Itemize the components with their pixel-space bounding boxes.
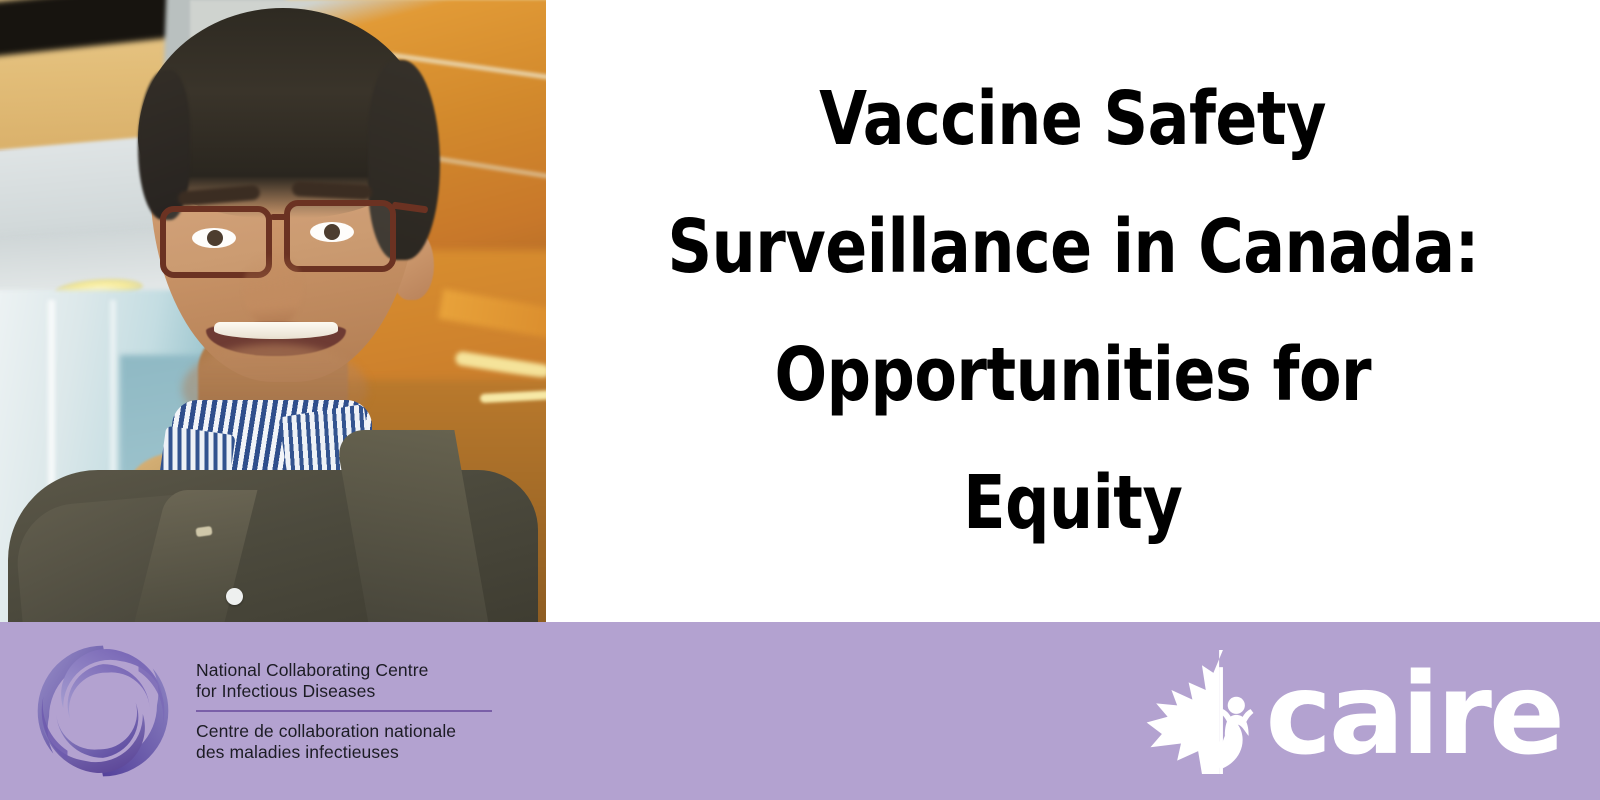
- photo-person-nose: [244, 255, 302, 327]
- nccid-french-line-1: Centre de collaboration nationale: [196, 721, 492, 742]
- nccid-logo: National Collaborating Centre for Infect…: [32, 640, 492, 782]
- title-line-4: Equity: [963, 439, 1182, 567]
- caire-maple-leaf-people-icon: [1139, 648, 1263, 776]
- photo-person-eyeglass-bridge: [270, 214, 290, 220]
- title-area: Vaccine Safety Surveillance in Canada: O…: [546, 0, 1600, 622]
- nccid-divider-rule: [196, 710, 492, 712]
- caire-logo: caire: [1139, 646, 1562, 778]
- photo-person-eyeglass-lens-right: [284, 200, 396, 272]
- speaker-portrait-photo: [0, 0, 546, 622]
- nccid-french-line-2: des maladies infectieuses: [196, 742, 492, 763]
- photo-person-shirt-button: [226, 588, 243, 605]
- title-line-2: Surveillance in Canada:: [667, 183, 1478, 311]
- nccid-english-line-1: National Collaborating Centre: [196, 660, 492, 681]
- nccid-swirl-icon: [32, 640, 174, 782]
- title-line-3: Opportunities for: [775, 311, 1372, 439]
- footer-logo-band: National Collaborating Centre for Infect…: [0, 622, 1600, 800]
- nccid-english-line-2: for Infectious Diseases: [196, 681, 492, 702]
- nccid-text-block: National Collaborating Centre for Infect…: [196, 660, 492, 763]
- photo-person-teeth: [214, 322, 338, 339]
- caire-wordmark: caire: [1265, 659, 1562, 771]
- presentation-title-banner: Vaccine Safety Surveillance in Canada: O…: [0, 0, 1600, 800]
- title-line-1: Vaccine Safety: [820, 55, 1327, 183]
